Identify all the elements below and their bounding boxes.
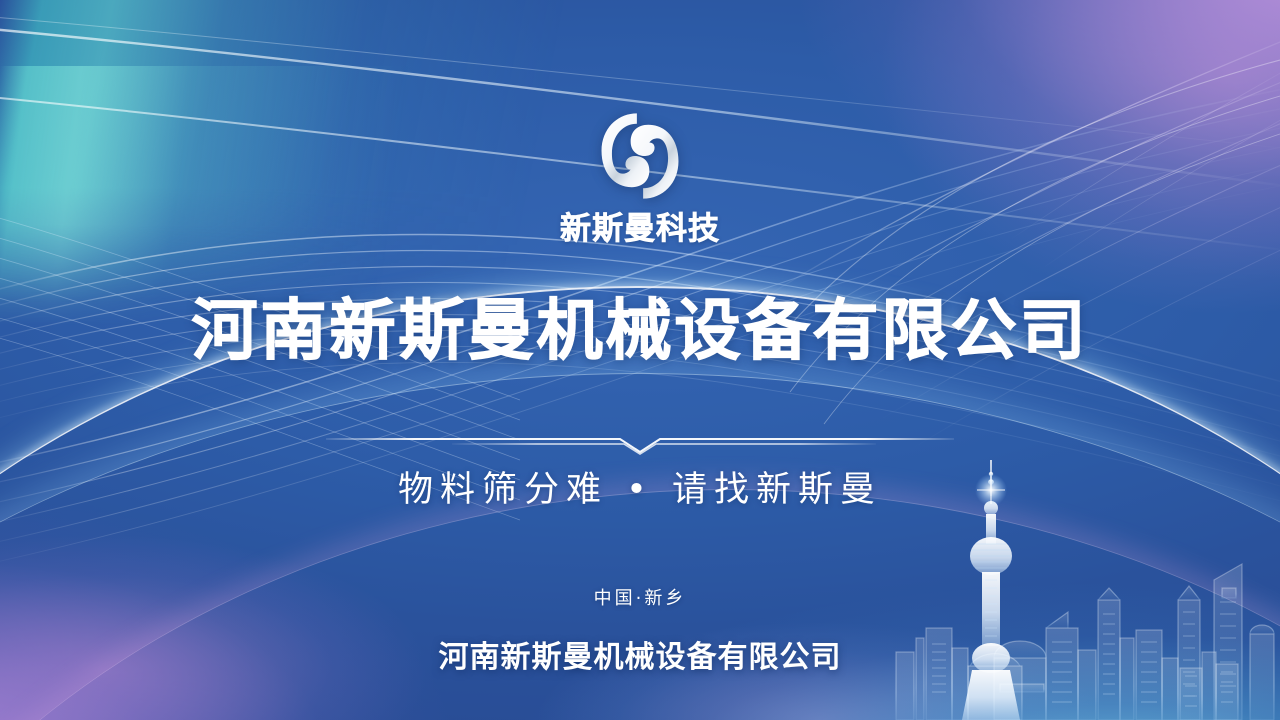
chevron-divider-ornament: [324, 433, 956, 455]
brand-logo-block: 新斯曼科技: [560, 104, 720, 245]
brand-wordmark: 新斯曼科技: [560, 214, 720, 245]
slide-canvas: 新斯曼科技 河南新斯曼机械设备有限公司: [0, 0, 1280, 720]
slide-content: 新斯曼科技 河南新斯曼机械设备有限公司: [0, 0, 1280, 720]
tagline: 物料筛分难 • 请找新斯曼: [398, 461, 882, 512]
nsm-swirl-logo-icon: [588, 104, 692, 208]
page-title: 河南新斯曼机械设备有限公司: [192, 297, 1089, 366]
footer-caption: 河南新斯曼机械设备有限公司: [0, 632, 1280, 676]
location-label: 中国·新乡: [594, 584, 687, 610]
